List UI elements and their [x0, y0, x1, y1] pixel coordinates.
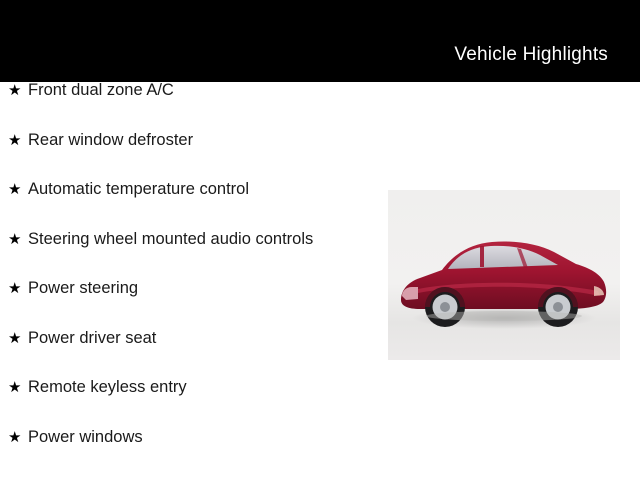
star-icon: ★ [8, 331, 28, 346]
list-item: ★ Remote keyless entry [0, 379, 400, 429]
star-icon: ★ [8, 182, 28, 197]
vehicle-highlights-list: ★ Front dual zone A/C ★ Rear window defr… [0, 82, 400, 478]
vehicle-illustration [388, 190, 620, 360]
star-icon: ★ [8, 430, 28, 445]
header-bar: Vehicle Highlights [0, 0, 640, 82]
list-item: ★ Rear window defroster [0, 132, 400, 182]
list-item: ★ Power windows [0, 429, 400, 479]
list-item-label: Steering wheel mounted audio controls [28, 231, 313, 248]
star-icon: ★ [8, 83, 28, 98]
list-item: ★ Power driver seat [0, 330, 400, 380]
list-item-label: Power steering [28, 280, 138, 297]
page-title: Vehicle Highlights [454, 44, 608, 66]
star-icon: ★ [8, 133, 28, 148]
star-icon: ★ [8, 281, 28, 296]
star-icon: ★ [8, 232, 28, 247]
list-item-label: Power windows [28, 429, 143, 446]
list-item-label: Rear window defroster [28, 132, 193, 149]
list-item-label: Front dual zone A/C [28, 82, 174, 99]
list-item: ★ Steering wheel mounted audio controls [0, 231, 400, 281]
list-item: ★ Power steering [0, 280, 400, 330]
list-item: ★ Front dual zone A/C [0, 82, 400, 132]
list-item: ★ Automatic temperature control [0, 181, 400, 231]
list-item-label: Remote keyless entry [28, 379, 187, 396]
slide: Vehicle Highlights ★ Front dual zone A/C… [0, 0, 640, 480]
list-item-label: Automatic temperature control [28, 181, 249, 198]
list-item-label: Power driver seat [28, 330, 156, 347]
vehicle-photo [388, 190, 620, 360]
star-icon: ★ [8, 380, 28, 395]
